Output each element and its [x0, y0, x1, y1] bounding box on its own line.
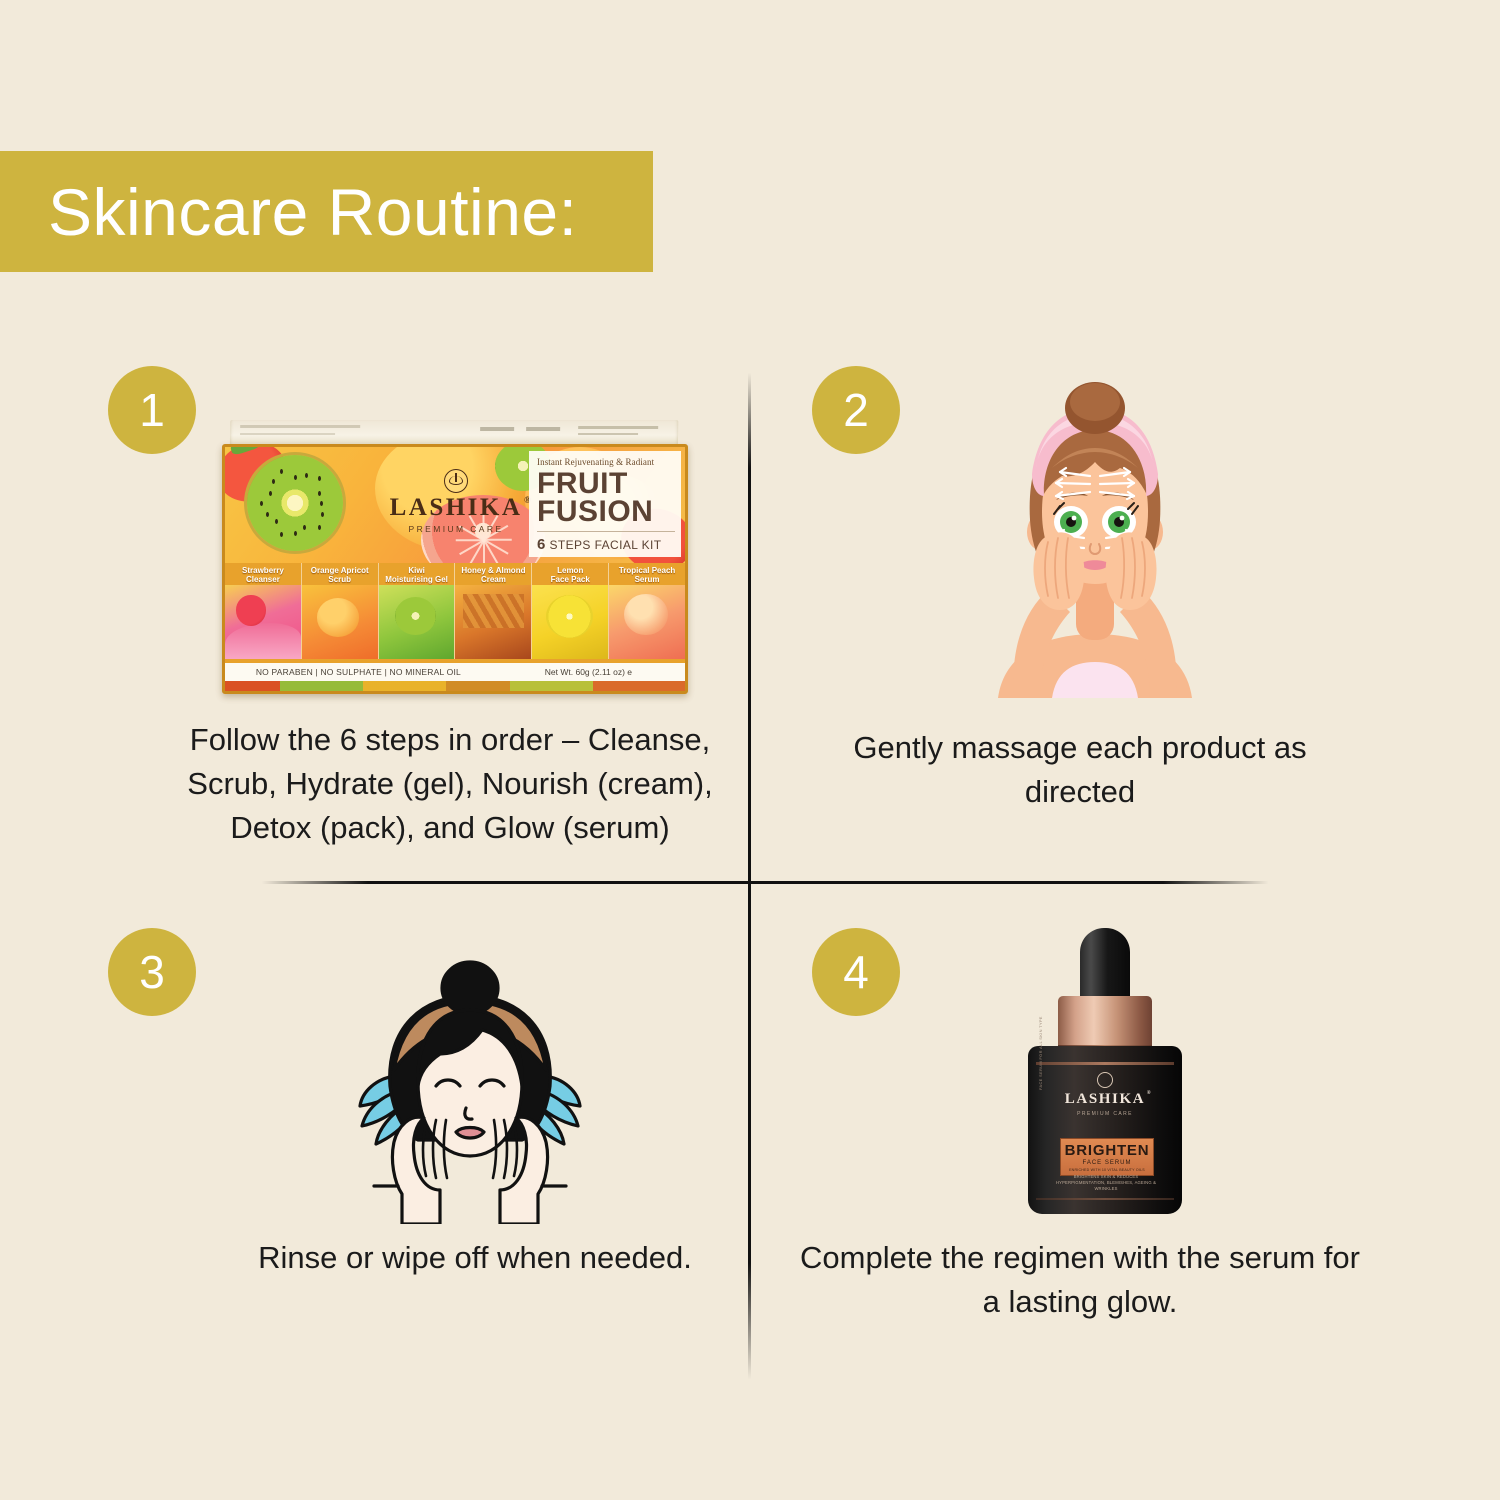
box-footer-strip: NO PARABEN | NO SULPHATE | NO MINERAL OI… [225, 663, 685, 681]
apricot-art-icon [302, 585, 378, 659]
bottle-brand-tagline: PREMIUM CARE [1028, 1111, 1182, 1117]
peach-art-icon [609, 585, 685, 659]
lemon-art-icon [532, 585, 608, 659]
horizontal-divider [230, 881, 1290, 884]
leaf-emblem-icon [444, 469, 468, 493]
box-steps-line: 6 STEPS FACIAL KIT [537, 531, 675, 553]
box-item-kiwi-gel: KiwiMoisturising Gel [379, 563, 456, 659]
box-item-orange-apricot-scrub: Orange ApricotScrub [302, 563, 379, 659]
step-1-caption: Follow the 6 steps in order – Cleanse, S… [150, 718, 750, 850]
box-item-lemon-face-pack: LemonFace Pack [532, 563, 609, 659]
brighten-serum-bottle-image: FACE SERUM FOR ALL SKIN TYPE LASHIKA® PR… [1012, 928, 1198, 1216]
leaf-emblem-icon [1097, 1072, 1113, 1088]
step-badge-4: 4 [812, 928, 900, 1016]
step-4-caption: Complete the regimen with the serum for … [800, 1236, 1360, 1324]
box-item-honey-almond-cream: Honey & AlmondCream [455, 563, 532, 659]
step-badge-2: 2 [812, 366, 900, 454]
bottle-enriched-with: ENRICHED WITH 10 VITAL BEAUTY OILS [1061, 1168, 1153, 1172]
step-3-caption: Rinse or wipe off when needed. [250, 1236, 700, 1280]
bottle-product-label: BRIGHTEN FACE SERUM ENRICHED WITH 10 VIT… [1060, 1138, 1154, 1176]
strawberry-art-icon [225, 585, 301, 659]
step-badge-3: 3 [108, 928, 196, 1016]
box-bottom-accent-bar [225, 681, 685, 691]
box-name-plate: Instant Rejuvenating & Radiant FRUIT FUS… [529, 451, 681, 557]
box-kicker: Instant Rejuvenating & Radiant [537, 457, 675, 467]
fruit-fusion-box-image: LASHIKA® PREMIUM CARE Instant Rejuvenati… [222, 420, 682, 688]
box-item-label: Orange ApricotScrub [302, 563, 378, 589]
box-product-strip: StrawberryCleanser Orange ApricotScrub K… [225, 563, 685, 659]
page-title: Skincare Routine: [48, 179, 577, 245]
woman-rinsing-face-illustration [332, 958, 608, 1224]
bottle-product-type: FACE SERUM [1061, 1160, 1153, 1166]
bottle-bottom-ring [1036, 1198, 1174, 1200]
box-brand-logo: LASHIKA® PREMIUM CARE [381, 469, 531, 534]
honeycomb-art-icon [455, 585, 531, 659]
box-name-line1: FRUIT [537, 470, 675, 498]
box-item-label: Honey & AlmondCream [455, 563, 531, 589]
box-claims: NO PARABEN | NO SULPHATE | NO MINERAL OI… [225, 667, 492, 677]
box-item-label: KiwiMoisturising Gel [379, 563, 455, 589]
bottle-brand-logo: LASHIKA® PREMIUM CARE [1028, 1072, 1182, 1117]
box-brand-name: LASHIKA® [390, 495, 523, 520]
box-item-label: StrawberryCleanser [225, 563, 301, 589]
box-front-face: LASHIKA® PREMIUM CARE Instant Rejuvenati… [222, 444, 688, 694]
box-item-label: Tropical PeachSerum [609, 563, 685, 589]
box-item-label: LemonFace Pack [532, 563, 608, 589]
title-banner: Skincare Routine: [0, 151, 653, 272]
box-item-tropical-peach-serum: Tropical PeachSerum [609, 563, 685, 659]
bottle-top-ring [1036, 1062, 1174, 1065]
box-item-strawberry-cleanser: StrawberryCleanser [225, 563, 302, 659]
infographic-page: Skincare Routine: 1 2 3 4 [0, 0, 1500, 1500]
woman-massaging-face-illustration [952, 372, 1238, 698]
vertical-divider [748, 330, 751, 1390]
bottle-description: BRIGHTENS SKIN & REDUCES HYPERPIGMENTATI… [1056, 1174, 1156, 1192]
box-brand-tagline: PREMIUM CARE [381, 524, 531, 534]
box-name-line2: FUSION [537, 498, 675, 526]
kiwi-art-icon [379, 585, 455, 659]
bottle-body: FACE SERUM FOR ALL SKIN TYPE LASHIKA® PR… [1028, 1046, 1182, 1214]
bottle-product-name: BRIGHTEN [1061, 1143, 1153, 1158]
step-2-caption: Gently massage each product as directed [830, 726, 1330, 814]
bottle-brand-name: LASHIKA® [1065, 1091, 1145, 1108]
box-net-weight: Net Wt. 60g (2.11 oz) e [492, 667, 685, 677]
dropper-cap [1080, 928, 1130, 1006]
step-badge-1: 1 [108, 366, 196, 454]
